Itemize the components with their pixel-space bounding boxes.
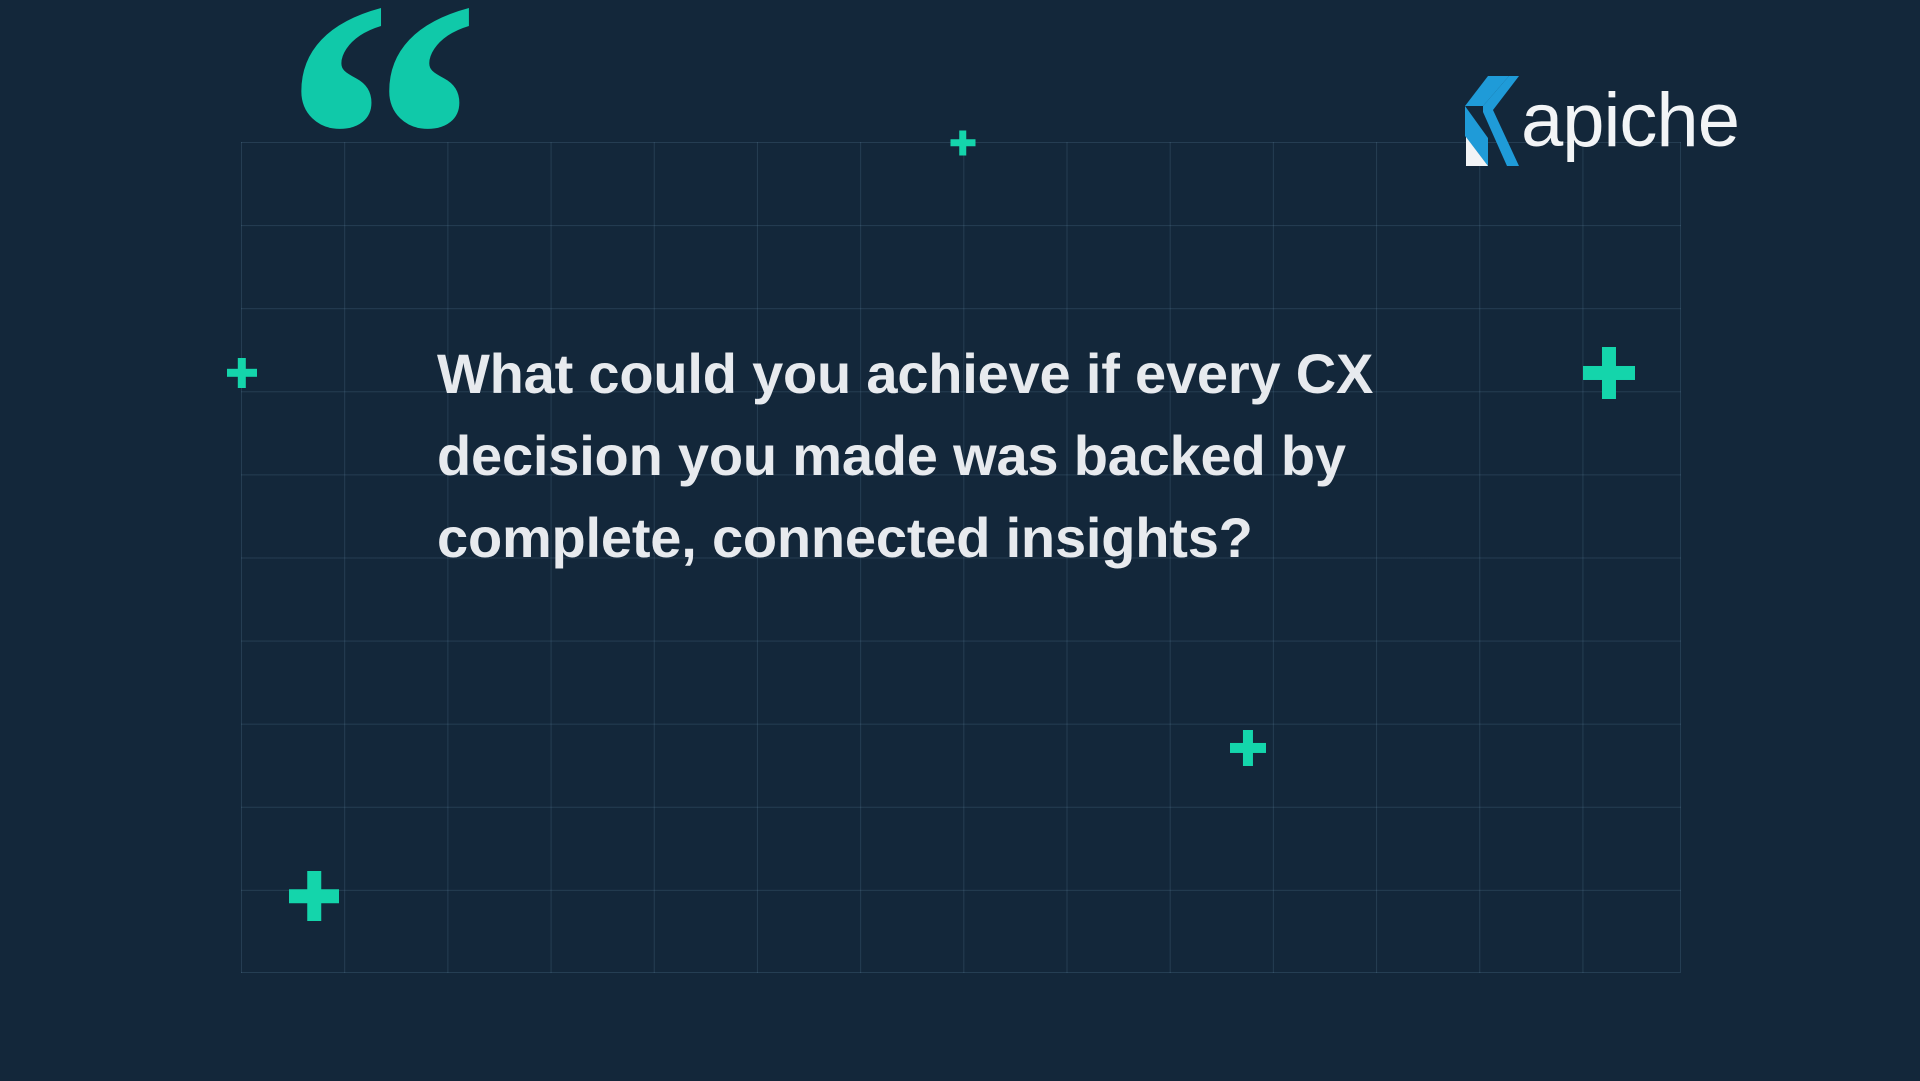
brand-logo: apiche [1463,76,1739,166]
plus-marker-right [1583,347,1635,399]
kapiche-logo-icon [1463,76,1519,166]
plus-marker-left [227,358,257,388]
plus-bar-vertical [307,871,321,921]
plus-marker-bottom [289,871,339,921]
quotation-mark-icon: “ [282,0,476,340]
brand-wordmark: apiche [1521,83,1739,159]
plus-marker-top [950,130,975,155]
quote-slide: “ What could you achieve if every CX dec… [0,0,1920,1081]
page-title: What could you achieve if every CX decis… [437,333,1457,579]
plus-bar-vertical [1602,347,1616,399]
plus-bar-vertical [238,358,246,388]
plus-bar-vertical [959,130,967,155]
plus-bar-vertical [1243,730,1253,766]
plus-marker-middle [1230,730,1266,766]
